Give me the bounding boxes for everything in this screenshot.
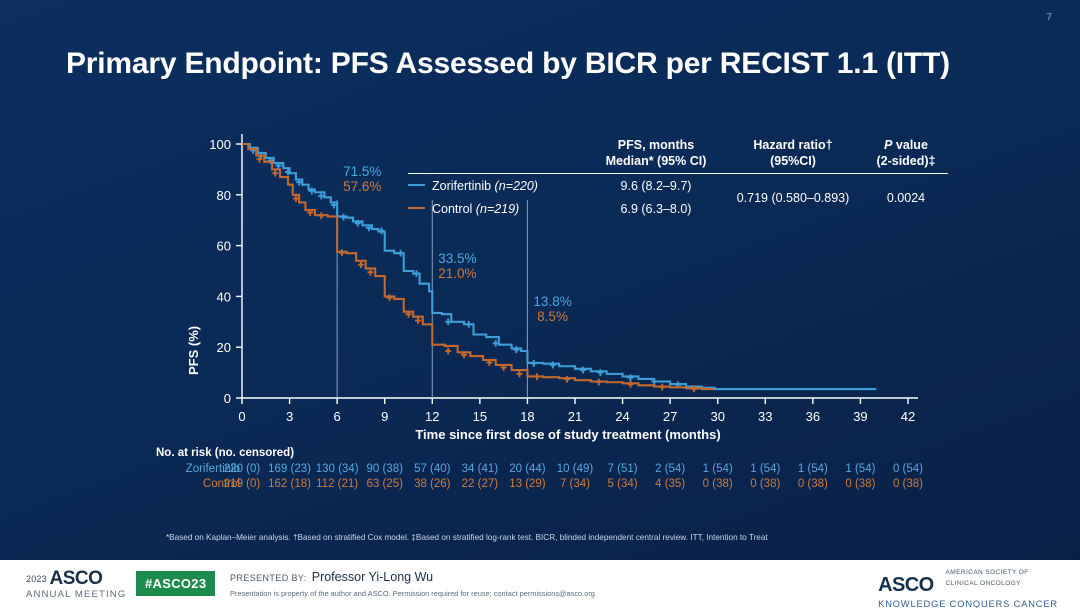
annotation-6mo: 71.5% 57.6% bbox=[343, 164, 381, 194]
annotation-6mo-control: 57.6% bbox=[343, 179, 381, 194]
x-tick-label: 3 bbox=[286, 409, 293, 424]
stats-row-zorifertinib: Zorifertinib (n=220) 9.6 (8.2–9.7) 0.719… bbox=[408, 174, 948, 198]
hashtag-badge: #ASCO23 bbox=[136, 571, 215, 596]
meeting-sub: ANNUAL MEETING bbox=[26, 590, 126, 600]
asco-org-logo-top: ASCOAMERICAN SOCIETY OFCLINICAL ONCOLOGY bbox=[878, 569, 1058, 595]
stats-header-pfs-line2: Median* (95% CI) bbox=[590, 154, 722, 170]
stats-hazard-ratio: 0.719 (0.580–0.893) bbox=[722, 174, 864, 221]
censor-mark bbox=[596, 379, 602, 386]
annotation-12mo-zorifertinib: 33.5% bbox=[438, 251, 476, 266]
censor-mark bbox=[293, 195, 299, 202]
censor-mark bbox=[309, 188, 315, 195]
censor-mark bbox=[339, 249, 345, 256]
x-tick-label: 18 bbox=[520, 409, 534, 424]
x-tick-label: 6 bbox=[334, 409, 341, 424]
legend-n-control: (n=219) bbox=[476, 202, 519, 216]
x-tick-label: 21 bbox=[568, 409, 582, 424]
x-tick-label: 39 bbox=[853, 409, 867, 424]
stats-median-zorifertinib: 9.6 (8.2–9.7) bbox=[590, 174, 722, 198]
censor-mark bbox=[318, 193, 324, 200]
page-title: Primary Endpoint: PFS Assessed by BICR p… bbox=[66, 47, 950, 81]
y-tick-label: 40 bbox=[217, 289, 231, 304]
stats-header-row: PFS, months Median* (95% CI) Hazard rati… bbox=[408, 138, 948, 174]
y-tick-label: 80 bbox=[217, 188, 231, 203]
censor-mark bbox=[358, 261, 364, 268]
legend-item-control[interactable]: Control (n=219) bbox=[408, 197, 590, 220]
x-axis-label: Time since first dose of study treatment… bbox=[0, 427, 1080, 442]
presented-by-line: PRESENTED BY:Professor Yi-Long Wu bbox=[230, 570, 595, 584]
annotation-12mo: 33.5% 21.0% bbox=[438, 251, 476, 281]
annotation-18mo: 13.8% 8.5% bbox=[533, 294, 571, 324]
censor-mark bbox=[379, 227, 385, 234]
x-tick-label: 36 bbox=[806, 409, 820, 424]
meeting-year: 2023 bbox=[26, 574, 47, 584]
censor-mark bbox=[517, 370, 523, 377]
annotation-18mo-control: 8.5% bbox=[533, 309, 571, 324]
meeting-brand: ASCO bbox=[50, 568, 103, 589]
stats-p-value: 0.0024 bbox=[864, 174, 948, 221]
y-axis-label: PFS (%) bbox=[186, 326, 201, 375]
censor-mark bbox=[534, 373, 540, 380]
censor-mark bbox=[318, 212, 324, 219]
slide-number: 7 bbox=[1046, 12, 1052, 23]
censor-mark bbox=[564, 376, 570, 383]
x-tick-label: 12 bbox=[425, 409, 439, 424]
stats-header-group bbox=[408, 138, 590, 174]
slide-root: 7 Primary Endpoint: PFS Assessed by BICR… bbox=[0, 0, 1080, 608]
footnote: *Based on Kaplan–Meier analysis. †Based … bbox=[166, 533, 768, 542]
censor-mark bbox=[628, 374, 634, 381]
x-tick-label: 27 bbox=[663, 409, 677, 424]
stats-header-pvalue-line1: P value bbox=[864, 138, 948, 154]
presented-by-label: PRESENTED BY: bbox=[230, 573, 307, 583]
stats-header-pvalue: P value (2-sided)‡ bbox=[864, 138, 948, 174]
asco-org-name-line2: CLINICAL ONCOLOGY bbox=[946, 580, 1021, 588]
x-tick-label: 30 bbox=[710, 409, 724, 424]
y-tick-label: 100 bbox=[209, 137, 231, 152]
annotation-18mo-zorifertinib: 13.8% bbox=[533, 294, 571, 309]
legend-item-zorifertinib[interactable]: Zorifertinib (n=220) bbox=[408, 174, 590, 198]
asco-tagline: KNOWLEDGE CONQUERS CANCER bbox=[878, 599, 1058, 608]
legend-label-control: Control bbox=[432, 202, 472, 216]
meeting-logo: 2023 ASCO ANNUAL MEETING bbox=[26, 569, 126, 600]
censor-mark bbox=[597, 369, 603, 376]
x-tick-label: 15 bbox=[473, 409, 487, 424]
annotation-6mo-zorifertinib: 71.5% bbox=[343, 164, 381, 179]
censor-mark bbox=[272, 170, 278, 177]
risk-table-row-zorifertinib: Zorifertinib 220 (0)169 (23)130 (34)90 (… bbox=[0, 463, 1080, 477]
censor-mark bbox=[628, 381, 634, 388]
annotation-12mo-control: 21.0% bbox=[438, 266, 476, 281]
risk-table-row-control: Control 219 (0)162 (18)112 (21)63 (25)38… bbox=[0, 478, 1080, 492]
censor-mark bbox=[398, 250, 404, 257]
stats-header-hr-line1: Hazard ratio† bbox=[722, 138, 864, 154]
censor-mark bbox=[445, 348, 451, 355]
meeting-logo-line1: 2023 ASCO bbox=[26, 569, 126, 588]
censor-mark bbox=[413, 270, 419, 277]
stats-table: PFS, months Median* (95% CI) Hazard rati… bbox=[408, 138, 948, 220]
slide-footer: 2023 ASCO ANNUAL MEETING #ASCO23 PRESENT… bbox=[0, 560, 1080, 608]
presenter-name: Professor Yi-Long Wu bbox=[312, 570, 433, 584]
legend-swatch-zorifertinib-icon bbox=[408, 184, 425, 186]
stats-header-pvalue-line2: (2-sided)‡ bbox=[864, 154, 948, 170]
asco-org-brand: ASCO bbox=[878, 574, 933, 596]
asco-org-name: AMERICAN SOCIETY OFCLINICAL ONCOLOGY bbox=[940, 569, 1029, 591]
x-axis-label-text: Time since first dose of study treatment… bbox=[415, 427, 720, 442]
censor-mark bbox=[386, 294, 392, 301]
censor-mark bbox=[415, 317, 421, 324]
x-tick-label: 9 bbox=[381, 409, 388, 424]
stats-header-pfs-line1: PFS, months bbox=[590, 138, 722, 154]
censor-mark bbox=[531, 360, 537, 367]
x-tick-label: 0 bbox=[238, 409, 245, 424]
risk-cell: 0 (54) bbox=[877, 463, 939, 475]
censor-mark bbox=[550, 362, 556, 369]
x-tick-label: 24 bbox=[615, 409, 629, 424]
censor-mark bbox=[580, 367, 586, 374]
stats-median-control: 6.9 (6.3–8.0) bbox=[590, 197, 722, 220]
risk-cell: 0 (38) bbox=[877, 478, 939, 490]
x-tick-label: 42 bbox=[901, 409, 915, 424]
presenter-block: PRESENTED BY:Professor Yi-Long Wu Presen… bbox=[230, 570, 595, 598]
censor-mark bbox=[466, 321, 472, 328]
legend-swatch-control-icon bbox=[408, 207, 425, 209]
censor-mark bbox=[367, 269, 373, 276]
censor-mark bbox=[513, 346, 519, 353]
legend-label-zorifertinib: Zorifertinib bbox=[432, 179, 491, 193]
stats-header-hr: Hazard ratio† (95%CI) bbox=[722, 138, 864, 174]
stats-header-pfs: PFS, months Median* (95% CI) bbox=[590, 138, 722, 174]
asco-org-logo: ASCOAMERICAN SOCIETY OFCLINICAL ONCOLOGY… bbox=[878, 569, 1058, 608]
censor-mark bbox=[340, 214, 346, 221]
risk-table-title: No. at risk (no. censored) bbox=[156, 447, 294, 459]
censor-mark bbox=[493, 340, 499, 347]
permission-text: Presentation is property of the author a… bbox=[230, 589, 595, 598]
asco-org-name-line1: AMERICAN SOCIETY OF bbox=[946, 569, 1029, 577]
censor-mark bbox=[659, 384, 665, 391]
stats-table-grid: PFS, months Median* (95% CI) Hazard rati… bbox=[408, 138, 948, 220]
legend-n-zorifertinib: (n=220) bbox=[495, 179, 538, 193]
stats-header-hr-line2: (95%CI) bbox=[722, 154, 864, 170]
x-tick-label: 33 bbox=[758, 409, 772, 424]
y-tick-label: 60 bbox=[217, 239, 231, 254]
censor-mark bbox=[445, 318, 451, 325]
y-tick-label: 20 bbox=[217, 340, 231, 355]
y-tick-label: 0 bbox=[224, 391, 231, 406]
